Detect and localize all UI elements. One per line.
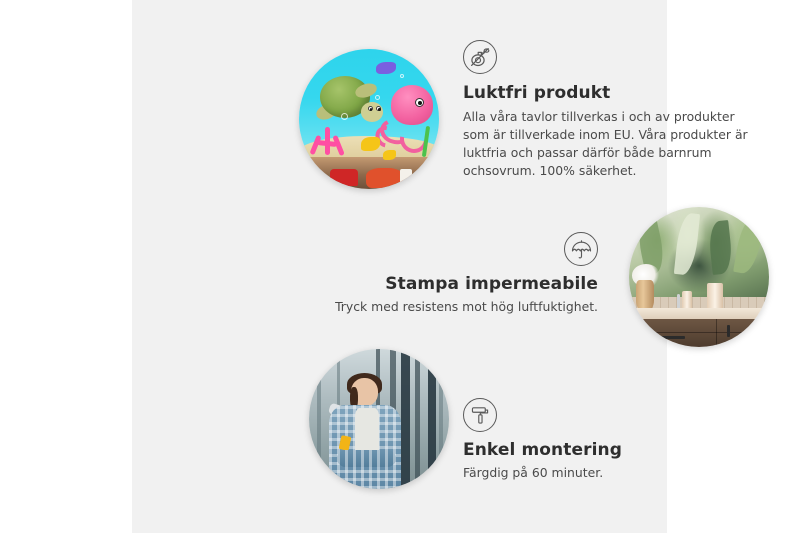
candle-tall [707, 283, 722, 311]
tree-mid-2 [415, 349, 420, 489]
wood-cabinet [629, 319, 769, 347]
feature-body: Färgdig på 60 minuter. [463, 464, 763, 482]
tree-far-1 [317, 349, 321, 489]
coral-pink [310, 127, 344, 155]
feature-easy-install: Enkel montering Färgdig på 60 minuter. [463, 398, 763, 482]
product-photo-bathroom [629, 207, 769, 347]
tree-near-1 [401, 349, 410, 489]
feature-body: Alla våra tavlor tillverkas i och av pro… [463, 108, 753, 180]
feature-waterproof: Stampa impermeabile Tryck med resistens … [312, 232, 598, 316]
turtle-eye-right [376, 106, 381, 111]
cabinet-divider [716, 319, 717, 347]
turtle-head [361, 102, 383, 122]
seabed-object-orange [366, 168, 402, 188]
product-feature-infographic: Luktfri produkt Alla våra tavlor tillver… [0, 0, 800, 533]
candle-small [682, 291, 692, 309]
feature-odorless: Luktfri produkt Alla våra tavlor tillver… [463, 40, 763, 180]
seabed-object-white [400, 169, 413, 184]
feature-title: Luktfri produkt [463, 83, 763, 103]
tree-far-3 [439, 349, 443, 489]
cabinet-seam [629, 332, 769, 333]
no-fragrance-icon [463, 40, 497, 74]
octopus-eye [415, 98, 424, 107]
person-undershirt [355, 408, 379, 450]
umbrella-icon [564, 232, 598, 266]
person-crossed-arms [337, 450, 396, 467]
product-photo-ocean [299, 49, 439, 189]
painter-scene [309, 349, 449, 489]
bathroom-scene [629, 207, 769, 347]
product-photo-painter [309, 349, 449, 489]
bubble-2 [375, 95, 380, 100]
drawer-handle [649, 336, 685, 339]
feature-title: Enkel montering [463, 440, 763, 460]
tree-near-2 [428, 349, 436, 489]
paint-roller-icon [463, 398, 497, 432]
door-handle [727, 325, 730, 338]
content-panel: Luktfri produkt Alla våra tavlor tillver… [132, 0, 667, 533]
feature-body: Tryck med resistens mot hög luftfuktighe… [312, 298, 598, 316]
octopus-head [391, 85, 433, 124]
fish-yellow-small [383, 150, 396, 160]
gold-vase [636, 280, 654, 311]
fish-blue [376, 62, 396, 75]
ocean-scene [299, 49, 439, 189]
bubble-3 [400, 74, 404, 78]
feature-title: Stampa impermeabile [312, 274, 598, 294]
seabed-object-red [330, 169, 358, 186]
